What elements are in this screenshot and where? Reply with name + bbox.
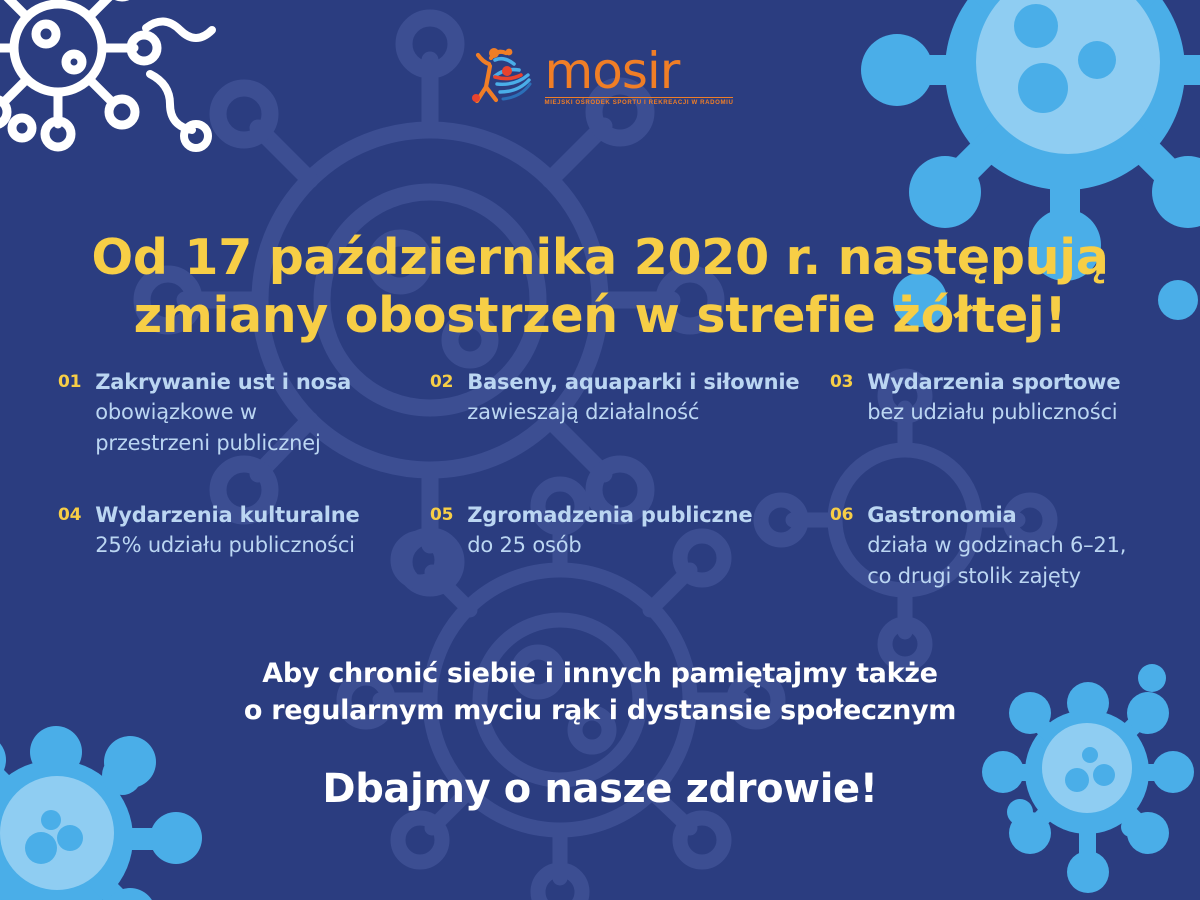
rule-item-06: 06 Gastronomia działa w godzinach 6–21, … bbox=[830, 501, 1158, 592]
rule-description-line: 25% udziału publiczności bbox=[95, 530, 359, 561]
rule-description-line: działa w godzinach 6–21, bbox=[867, 530, 1126, 561]
rule-item-05: 05 Zgromadzenia publiczne do 25 osób bbox=[430, 501, 830, 592]
footer-slogan: Dbajmy o nasze zdrowie! bbox=[0, 765, 1200, 813]
rule-body: Gastronomia działa w godzinach 6–21, co … bbox=[867, 501, 1126, 592]
rule-body: Zakrywanie ust i nosa obowiązkowe w prze… bbox=[95, 368, 351, 459]
rule-body: Wydarzenia kulturalne 25% udziału public… bbox=[95, 501, 359, 561]
rule-description-line: zawieszają działalność bbox=[467, 397, 799, 428]
rule-body: Wydarzenia sportowe bez udziału publiczn… bbox=[867, 368, 1120, 428]
poster-canvas: mosir MIEJSKI OŚRODEK SPORTU I REKREACJI… bbox=[0, 0, 1200, 900]
rule-description-line: przestrzeni publicznej bbox=[95, 428, 351, 459]
rule-title: Gastronomia bbox=[867, 501, 1126, 530]
header: mosir MIEJSKI OŚRODEK SPORTU I REKREACJI… bbox=[0, 0, 1200, 150]
rule-item-04: 04 Wydarzenia kulturalne 25% udziału pub… bbox=[58, 501, 430, 592]
rule-number: 03 bbox=[830, 368, 853, 394]
rule-description-line: co drugi stolik zajęty bbox=[867, 561, 1126, 592]
rule-body: Zgromadzenia publiczne do 25 osób bbox=[467, 501, 752, 561]
logo-wordmark: mosir bbox=[545, 48, 680, 96]
footer-note-line-2: o regularnym myciu rąk i dystansie społe… bbox=[0, 692, 1200, 729]
rule-number: 01 bbox=[58, 368, 81, 394]
rule-title: Zgromadzenia publiczne bbox=[467, 501, 752, 530]
restrictions-list: 01 Zakrywanie ust i nosa obowiązkowe w p… bbox=[58, 368, 1158, 592]
mosir-logo[interactable]: mosir MIEJSKI OŚRODEK SPORTU I REKREACJI… bbox=[467, 44, 734, 106]
rule-number: 05 bbox=[430, 501, 453, 527]
rule-description-line: bez udziału publiczności bbox=[867, 397, 1120, 428]
rule-item-01: 01 Zakrywanie ust i nosa obowiązkowe w p… bbox=[58, 368, 430, 501]
rule-title: Wydarzenia sportowe bbox=[867, 368, 1120, 397]
rule-number: 02 bbox=[430, 368, 453, 394]
rule-description-line: obowiązkowe w bbox=[95, 397, 351, 428]
rule-body: Baseny, aquaparki i siłownie zawieszają … bbox=[467, 368, 799, 428]
footer-note: Aby chronić siebie i innych pamiętajmy t… bbox=[0, 655, 1200, 730]
rule-description-line: do 25 osób bbox=[467, 530, 752, 561]
rule-title: Zakrywanie ust i nosa bbox=[95, 368, 351, 397]
rule-number: 04 bbox=[58, 501, 81, 527]
title-line-1: Od 17 października 2020 r. następują bbox=[0, 229, 1200, 287]
rule-title: Wydarzenia kulturalne bbox=[95, 501, 359, 530]
logo-subtitle: MIEJSKI OŚRODEK SPORTU I REKREACJI W RAD… bbox=[545, 97, 734, 107]
footer-note-line-1: Aby chronić siebie i innych pamiętajmy t… bbox=[0, 655, 1200, 692]
title-line-2: zmiany obostrzeń w strefie żółtej! bbox=[0, 287, 1200, 345]
rule-number: 06 bbox=[830, 501, 853, 527]
rule-item-02: 02 Baseny, aquaparki i siłownie zawiesza… bbox=[430, 368, 830, 501]
page-title: Od 17 października 2020 r. następują zmi… bbox=[0, 229, 1200, 345]
rule-title: Baseny, aquaparki i siłownie bbox=[467, 368, 799, 397]
rule-item-03: 03 Wydarzenia sportowe bez udziału publi… bbox=[830, 368, 1158, 501]
mosir-logo-mark bbox=[467, 44, 539, 106]
